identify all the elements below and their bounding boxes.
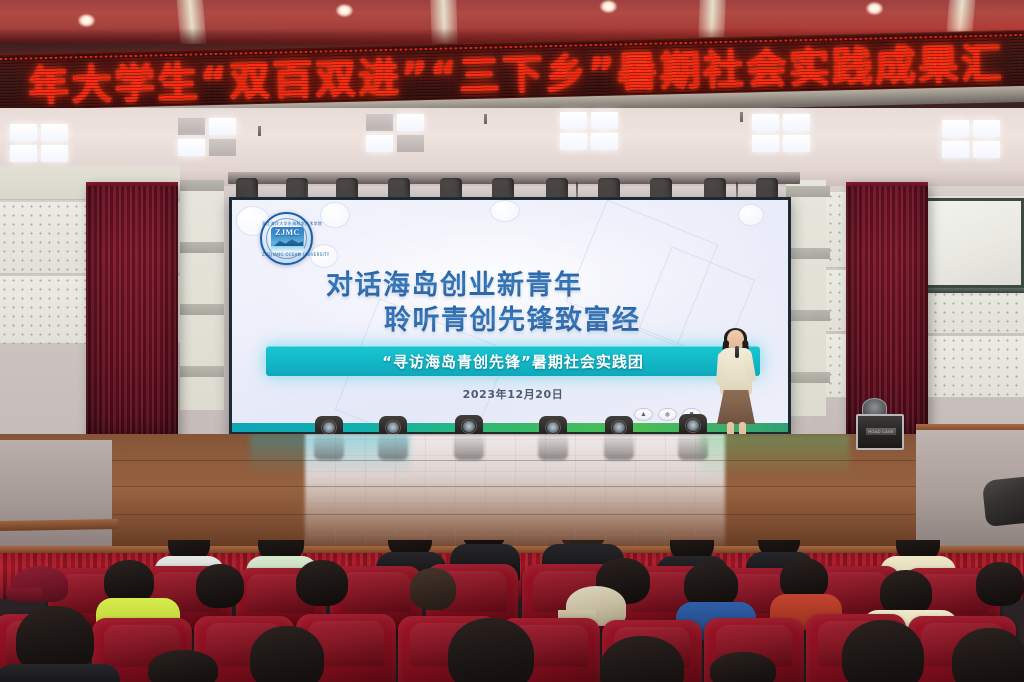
- wall-hook: [258, 126, 261, 136]
- zjmc-logo-icon: 浙江海洋大学东海科学技术学院 ZJMC ZHEJIANG OCEAN UNIVE…: [260, 212, 313, 265]
- floor-reflection-green: [700, 434, 850, 478]
- slide-subtitle-text: “寻访海岛青创先锋”暑期社会实践团: [382, 351, 644, 372]
- decorative-bubble: [490, 200, 520, 222]
- ceiling-panel-light: [560, 112, 624, 154]
- wall-hook: [484, 114, 487, 124]
- audience-head: [296, 560, 348, 606]
- audience-head: [196, 564, 244, 608]
- stage-apron-left: [0, 440, 112, 552]
- flight-case-label: ROAD CASE: [866, 428, 896, 435]
- audience-shoulders: [0, 664, 120, 682]
- audience-head: [250, 626, 324, 682]
- chart-icon: ▲: [634, 408, 653, 421]
- equipment-flight-case: ROAD CASE: [856, 414, 904, 450]
- cap-brim: [6, 588, 42, 602]
- wall-stripe: [786, 180, 826, 416]
- audience-head: [410, 568, 456, 610]
- wall-hook: [740, 112, 743, 122]
- stage-floor: [0, 434, 1024, 552]
- ceiling-panel-light: [10, 124, 74, 166]
- microphone-icon: [735, 346, 739, 358]
- decorative-bubble: [738, 204, 764, 226]
- audience-head: [148, 650, 218, 682]
- slide-title-block: 对话海岛创业新青年 聆听青创先锋致富经: [232, 270, 788, 336]
- logo-acronym: ZJMC: [271, 227, 304, 238]
- logo-arc-bottom-text: ZHEJIANG OCEAN UNIVERSITY: [262, 252, 315, 257]
- acoustic-panel: [922, 336, 1024, 398]
- ceiling-downlight: [336, 4, 353, 17]
- slide-date: 2023年12月20日: [232, 386, 788, 402]
- led-marquee-banner: 年大学生“双百双进”“三下乡”暑期社会实践成果汇: [0, 40, 1024, 112]
- ceiling-panel-light: [178, 118, 242, 160]
- ceiling-downlight: [866, 2, 883, 15]
- wall-stripe: [180, 180, 224, 410]
- leaf-icon: ❄: [658, 408, 677, 421]
- slide-title-line-1: 对话海岛创业新青年: [232, 270, 788, 301]
- audience-area: [0, 540, 1024, 682]
- stage-curtain-left: [86, 186, 178, 458]
- stage-apron-trim: [0, 519, 118, 531]
- projection-screen: 浙江海洋大学东海科学技术学院 ZJMC ZHEJIANG OCEAN UNIVE…: [232, 200, 788, 432]
- speaker-skirt: [717, 390, 755, 424]
- audience-head: [952, 628, 1024, 682]
- decorative-bubble: [320, 202, 350, 228]
- projection-screen-frame: 浙江海洋大学东海科学技术学院 ZJMC ZHEJIANG OCEAN UNIVE…: [229, 197, 791, 435]
- auditorium-scene: 年大学生“双百双进”“三下乡”暑期社会实践成果汇: [0, 0, 1024, 682]
- audience-head: [448, 618, 534, 682]
- ceiling-panel-light: [752, 114, 816, 156]
- audience-head-capped: [12, 566, 68, 602]
- ceiling-panel-light: [942, 120, 1006, 162]
- slide-subtitle-bar: “寻访海岛青创先锋”暑期社会实践团: [266, 346, 760, 376]
- audience-head: [842, 620, 924, 682]
- slide-title-line-2: 聆听青创先锋致富经: [232, 305, 788, 336]
- ceiling-downlight: [78, 14, 95, 27]
- stage-monitor-speaker: [982, 475, 1024, 527]
- audience-head: [976, 562, 1024, 606]
- ceiling-downlight: [600, 0, 617, 13]
- audience-head: [710, 652, 776, 682]
- ceiling-panel-light: [366, 114, 430, 156]
